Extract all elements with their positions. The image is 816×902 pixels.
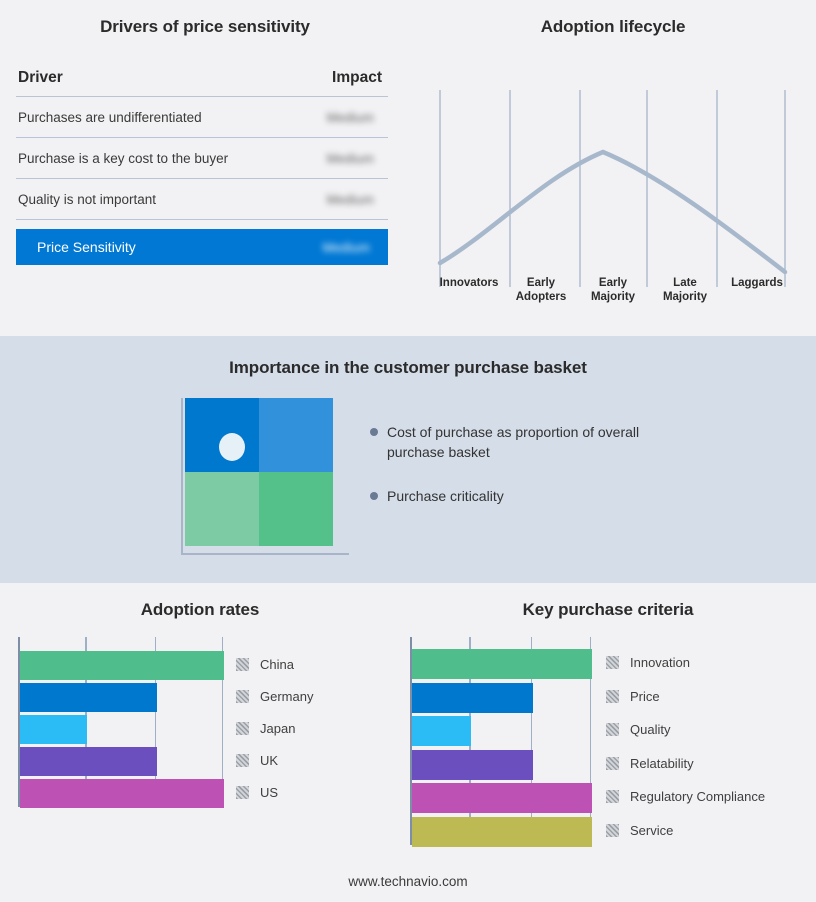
bar-fill [20,715,87,744]
drivers-panel: Drivers of price sensitivity Driver Impa… [0,0,410,336]
lifecycle-stage-labels: Innovators EarlyAdopters EarlyMajority L… [433,277,793,304]
bullet-dot-icon [370,428,378,436]
driver-name: Purchase is a key cost to the buyer [18,151,228,166]
adoption-rates-title: Adoption rates [0,583,400,620]
legend-swatch-icon [606,723,619,736]
bar-fill [412,817,592,847]
legend-item: Purchase criticality [370,486,670,506]
table-row: Purchases are undifferentiated Medium [16,97,388,138]
drivers-table-header: Driver Impact [16,69,388,97]
lifecycle-stage-label: EarlyMajority [577,277,649,304]
lifecycle-gridlines [440,90,785,287]
bar-plot-area [18,637,222,807]
purchase-basket-legend: Cost of purchase as proportion of overal… [370,422,670,530]
bar [412,817,592,847]
legend-label: Quality [630,722,670,737]
legend-swatch-icon [606,790,619,803]
purchase-basket-title: Importance in the customer purchase bask… [0,336,816,378]
driver-name: Quality is not important [18,192,156,207]
summary-impact-value: Medium [323,240,370,255]
quadrant-cell-top-right [259,398,333,472]
legend-swatch-icon [606,690,619,703]
legend-swatch-icon [236,786,249,799]
legend-label: Japan [260,721,295,736]
bar [412,683,533,713]
legend-swatch-icon [606,757,619,770]
quadrant-cell-top-left [185,398,259,472]
legend-item: Germany [236,680,313,712]
adoption-rates-chart: ChinaGermanyJapanUKUS [18,637,222,807]
table-row: Quality is not important Medium [16,179,388,220]
lifecycle-stage-label: LateMajority [649,277,721,304]
driver-name: Purchases are undifferentiated [18,110,202,125]
bar-plot-area [410,637,590,845]
legend-item: Quality [606,713,765,747]
bar [20,651,224,680]
legend-item: Regulatory Compliance [606,780,765,814]
bar-fill [412,649,592,679]
legend-swatch-icon [236,722,249,735]
legend-label: China [260,657,294,672]
chart-legend: InnovationPriceQualityRelatabilityRegula… [606,646,765,847]
price-sensitivity-summary-row: Price Sensitivity Medium [16,229,388,265]
lifecycle-panel-title: Adoption lifecycle [410,0,816,37]
lifecycle-stage-label: Laggards [721,277,793,304]
legend-label: Relatability [630,756,694,771]
quadrant-position-marker [219,433,245,461]
bottom-section: Adoption rates ChinaGermanyJapanUKUS Key… [0,583,816,902]
legend-item: Cost of purchase as proportion of overal… [370,422,670,462]
lifecycle-stage-label: Innovators [433,277,505,304]
quadrant-y-axis [181,398,183,554]
bar-fill [20,683,157,712]
bullet-dot-icon [370,492,378,500]
drivers-panel-title: Drivers of price sensitivity [0,0,410,37]
bar-fill [412,683,533,713]
impact-value: Medium [327,110,388,125]
legend-swatch-icon [236,754,249,767]
legend-swatch-icon [606,656,619,669]
legend-item: US [236,776,313,808]
purchase-criteria-title: Key purchase criteria [400,583,816,620]
purchase-basket-section: Importance in the customer purchase bask… [0,336,816,583]
bar-fill [20,779,224,808]
bar-fill [412,783,592,813]
legend-item: UK [236,744,313,776]
purchase-criteria-panel: Key purchase criteria InnovationPriceQua… [400,583,816,902]
quadrant-cell-bottom-right [259,472,333,546]
lifecycle-panel: Adoption lifecycle Innovators EarlyAdopt… [410,0,816,336]
bar [412,649,592,679]
quadrant-plot-area [185,398,333,546]
summary-label: Price Sensitivity [37,239,136,255]
bar [20,747,157,776]
legend-label: UK [260,753,278,768]
impact-value: Medium [327,192,388,207]
bar-fill [412,716,471,746]
quadrant-cell-bottom-left [185,472,259,546]
legend-swatch-icon [606,824,619,837]
drivers-table: Driver Impact Purchases are undifferenti… [16,69,388,265]
legend-label: Regulatory Compliance [630,789,765,804]
legend-item: Price [606,680,765,714]
legend-label: Purchase criticality [387,486,504,506]
lifecycle-bell-curve [440,152,785,272]
quadrant-chart [174,398,349,573]
adoption-rates-panel: Adoption rates ChinaGermanyJapanUKUS [0,583,400,902]
legend-label: Service [630,823,673,838]
bar [412,783,592,813]
bar [412,716,471,746]
bar-fill [20,747,157,776]
lifecycle-chart: Innovators EarlyAdopters EarlyMajority L… [433,82,793,307]
table-row: Purchase is a key cost to the buyer Medi… [16,138,388,179]
legend-label: Cost of purchase as proportion of overal… [387,422,647,462]
legend-label: Germany [260,689,313,704]
purchase-criteria-chart: InnovationPriceQualityRelatabilityRegula… [410,637,590,845]
legend-swatch-icon [236,658,249,671]
legend-item: Japan [236,712,313,744]
footer-url: www.technavio.com [0,874,816,889]
impact-value: Medium [327,151,388,166]
legend-item: China [236,648,313,680]
bar [20,715,87,744]
legend-label: US [260,785,278,800]
top-section: Drivers of price sensitivity Driver Impa… [0,0,816,336]
bar-fill [20,651,224,680]
legend-label: Price [630,689,660,704]
legend-item: Service [606,814,765,848]
bar [20,683,157,712]
legend-swatch-icon [236,690,249,703]
legend-label: Innovation [630,655,690,670]
column-header-driver: Driver [18,69,63,87]
bar [20,779,224,808]
lifecycle-stage-label: EarlyAdopters [505,277,577,304]
lifecycle-curve-svg [433,82,793,297]
quadrant-x-axis [181,553,349,555]
bar-fill [412,750,533,780]
legend-item: Innovation [606,646,765,680]
chart-legend: ChinaGermanyJapanUKUS [236,648,313,808]
column-header-impact: Impact [332,69,388,87]
bar [412,750,533,780]
legend-item: Relatability [606,747,765,781]
